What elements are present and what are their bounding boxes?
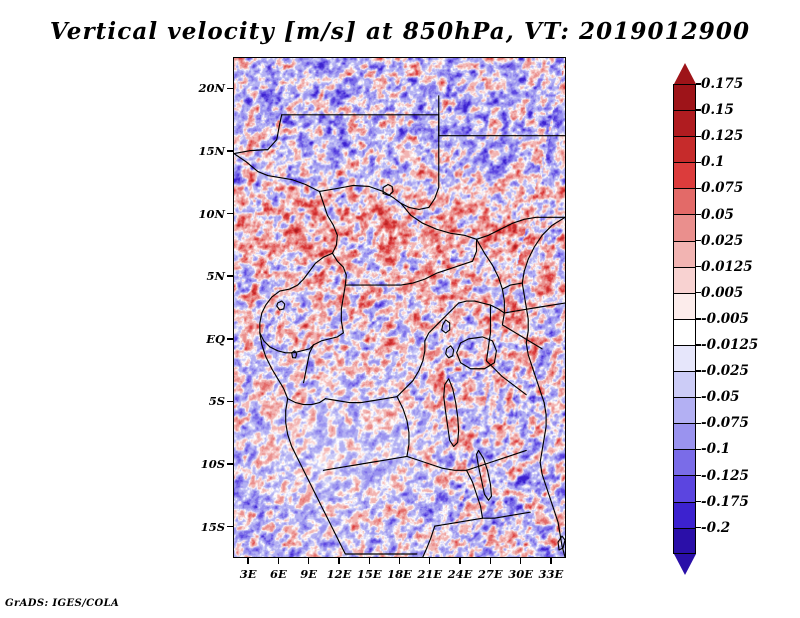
colorbar-tick-label: 0.175 — [701, 76, 743, 92]
lat-tick-mark — [227, 463, 233, 464]
lon-tick-label: 6E — [270, 567, 287, 581]
lat-tick-label: 15S — [187, 520, 225, 534]
lat-tick-mark — [227, 150, 233, 151]
lat-tick-label: 5S — [187, 394, 225, 408]
colorbar-tick-mark — [696, 475, 701, 476]
colorbar-tick-mark — [696, 501, 701, 502]
colorbar-tick-label: -0.05 — [701, 389, 739, 405]
lon-tick-mark — [308, 558, 309, 564]
colorbar-swatch — [673, 293, 696, 319]
map-plot-area[interactable] — [233, 57, 566, 558]
lat-tick-label: 5N — [187, 269, 225, 283]
colorbar-tick-label: 0.125 — [701, 128, 743, 144]
colorbar-swatch — [673, 371, 696, 397]
colorbar-swatch — [673, 241, 696, 267]
colorbar-swatch — [673, 423, 696, 449]
lat-tick-label: 10S — [187, 457, 225, 471]
colorbar-swatch — [673, 345, 696, 371]
lon-tick-mark — [247, 558, 248, 564]
lon-tick-label: 24E — [448, 567, 473, 581]
lon-tick-mark — [399, 558, 400, 564]
lat-tick-mark — [227, 275, 233, 276]
colorbar-swatch — [673, 319, 696, 345]
lon-tick-label: 12E — [327, 567, 352, 581]
colorbar-tick-mark — [696, 370, 701, 371]
lon-tick-mark — [459, 558, 460, 564]
lat-tick-mark — [227, 401, 233, 402]
colorbar-tick-label: 0.15 — [701, 102, 734, 118]
lon-tick-mark — [550, 558, 551, 564]
colorbar-tick-mark — [696, 162, 701, 163]
colorbar-tick-label: -0.2 — [701, 520, 730, 536]
colorbar-tick-mark — [696, 109, 701, 110]
colorbar-tick-label: -0.075 — [701, 415, 749, 431]
colorbar-tick-mark — [696, 292, 701, 293]
lon-tick-label: 9E — [300, 567, 317, 581]
colorbar-tick-label: -0.1 — [701, 441, 730, 457]
colorbar-tick-label: -0.025 — [701, 363, 749, 379]
colorbar-swatch — [673, 397, 696, 423]
lon-tick-mark — [520, 558, 521, 564]
lat-tick-label: 20N — [187, 81, 225, 95]
lon-tick-label: 18E — [387, 567, 412, 581]
colorbar-tick-mark — [696, 240, 701, 241]
colorbar-tick-label: 0.05 — [701, 207, 734, 223]
lon-tick-label: 27E — [478, 567, 503, 581]
colorbar-over-arrow — [674, 63, 696, 84]
colorbar[interactable] — [673, 63, 696, 575]
colorbar-swatch — [673, 110, 696, 136]
lat-tick-mark — [227, 88, 233, 89]
lat-tick-label: EQ — [187, 332, 225, 346]
colorbar-swatch — [673, 84, 696, 110]
colorbar-swatch — [673, 162, 696, 188]
colorbar-tick-label: 0.075 — [701, 180, 743, 196]
colorbar-tick-mark — [696, 214, 701, 215]
colorbar-tick-label: 0.005 — [701, 285, 743, 301]
lat-tick-mark — [227, 338, 233, 339]
lat-tick-mark — [227, 526, 233, 527]
colorbar-tick-label: -0.175 — [701, 494, 749, 510]
colorbar-swatch — [673, 188, 696, 214]
lon-tick-label: 15E — [357, 567, 382, 581]
colorbar-tick-mark — [696, 83, 701, 84]
country-borders-overlay — [234, 58, 565, 557]
colorbar-swatch — [673, 136, 696, 162]
colorbar-swatch — [673, 267, 696, 293]
colorbar-tick-label: -0.0125 — [701, 337, 758, 353]
lon-tick-mark — [490, 558, 491, 564]
colorbar-swatch — [673, 528, 696, 554]
colorbar-tick-mark — [696, 527, 701, 528]
colorbar-tick-label: -0.005 — [701, 311, 749, 327]
page-title: Vertical velocity [m/s] at 850hPa, VT: 2… — [0, 18, 800, 45]
lon-tick-mark — [338, 558, 339, 564]
colorbar-tick-mark — [696, 318, 701, 319]
lon-tick-mark — [278, 558, 279, 564]
colorbar-swatch — [673, 502, 696, 528]
lon-tick-label: 30E — [508, 567, 533, 581]
colorbar-tick-label: 0.0125 — [701, 259, 753, 275]
colorbar-swatches — [673, 84, 696, 554]
colorbar-tick-mark — [696, 344, 701, 345]
colorbar-tick-label: -0.125 — [701, 468, 749, 484]
colorbar-tick-mark — [696, 266, 701, 267]
colorbar-tick-mark — [696, 423, 701, 424]
colorbar-tick-mark — [696, 449, 701, 450]
colorbar-tick-mark — [696, 136, 701, 137]
colorbar-swatch — [673, 449, 696, 475]
lon-tick-label: 3E — [240, 567, 257, 581]
colorbar-tick-label: 0.025 — [701, 233, 743, 249]
lat-tick-mark — [227, 213, 233, 214]
colorbar-under-arrow — [674, 554, 696, 575]
lon-tick-mark — [369, 558, 370, 564]
colorbar-swatch — [673, 475, 696, 501]
colorbar-tick-mark — [696, 397, 701, 398]
colorbar-swatch — [673, 214, 696, 240]
lat-tick-label: 15N — [187, 144, 225, 158]
coastlines-and-borders — [234, 96, 565, 557]
lon-tick-mark — [429, 558, 430, 564]
colorbar-tick-label: 0.1 — [701, 154, 725, 170]
colorbar-tick-mark — [696, 188, 701, 189]
lon-tick-label: 21E — [417, 567, 442, 581]
lat-tick-label: 10N — [187, 207, 225, 221]
lon-tick-label: 33E — [538, 567, 563, 581]
grads-credit: GrADS: IGES/COLA — [5, 598, 119, 609]
